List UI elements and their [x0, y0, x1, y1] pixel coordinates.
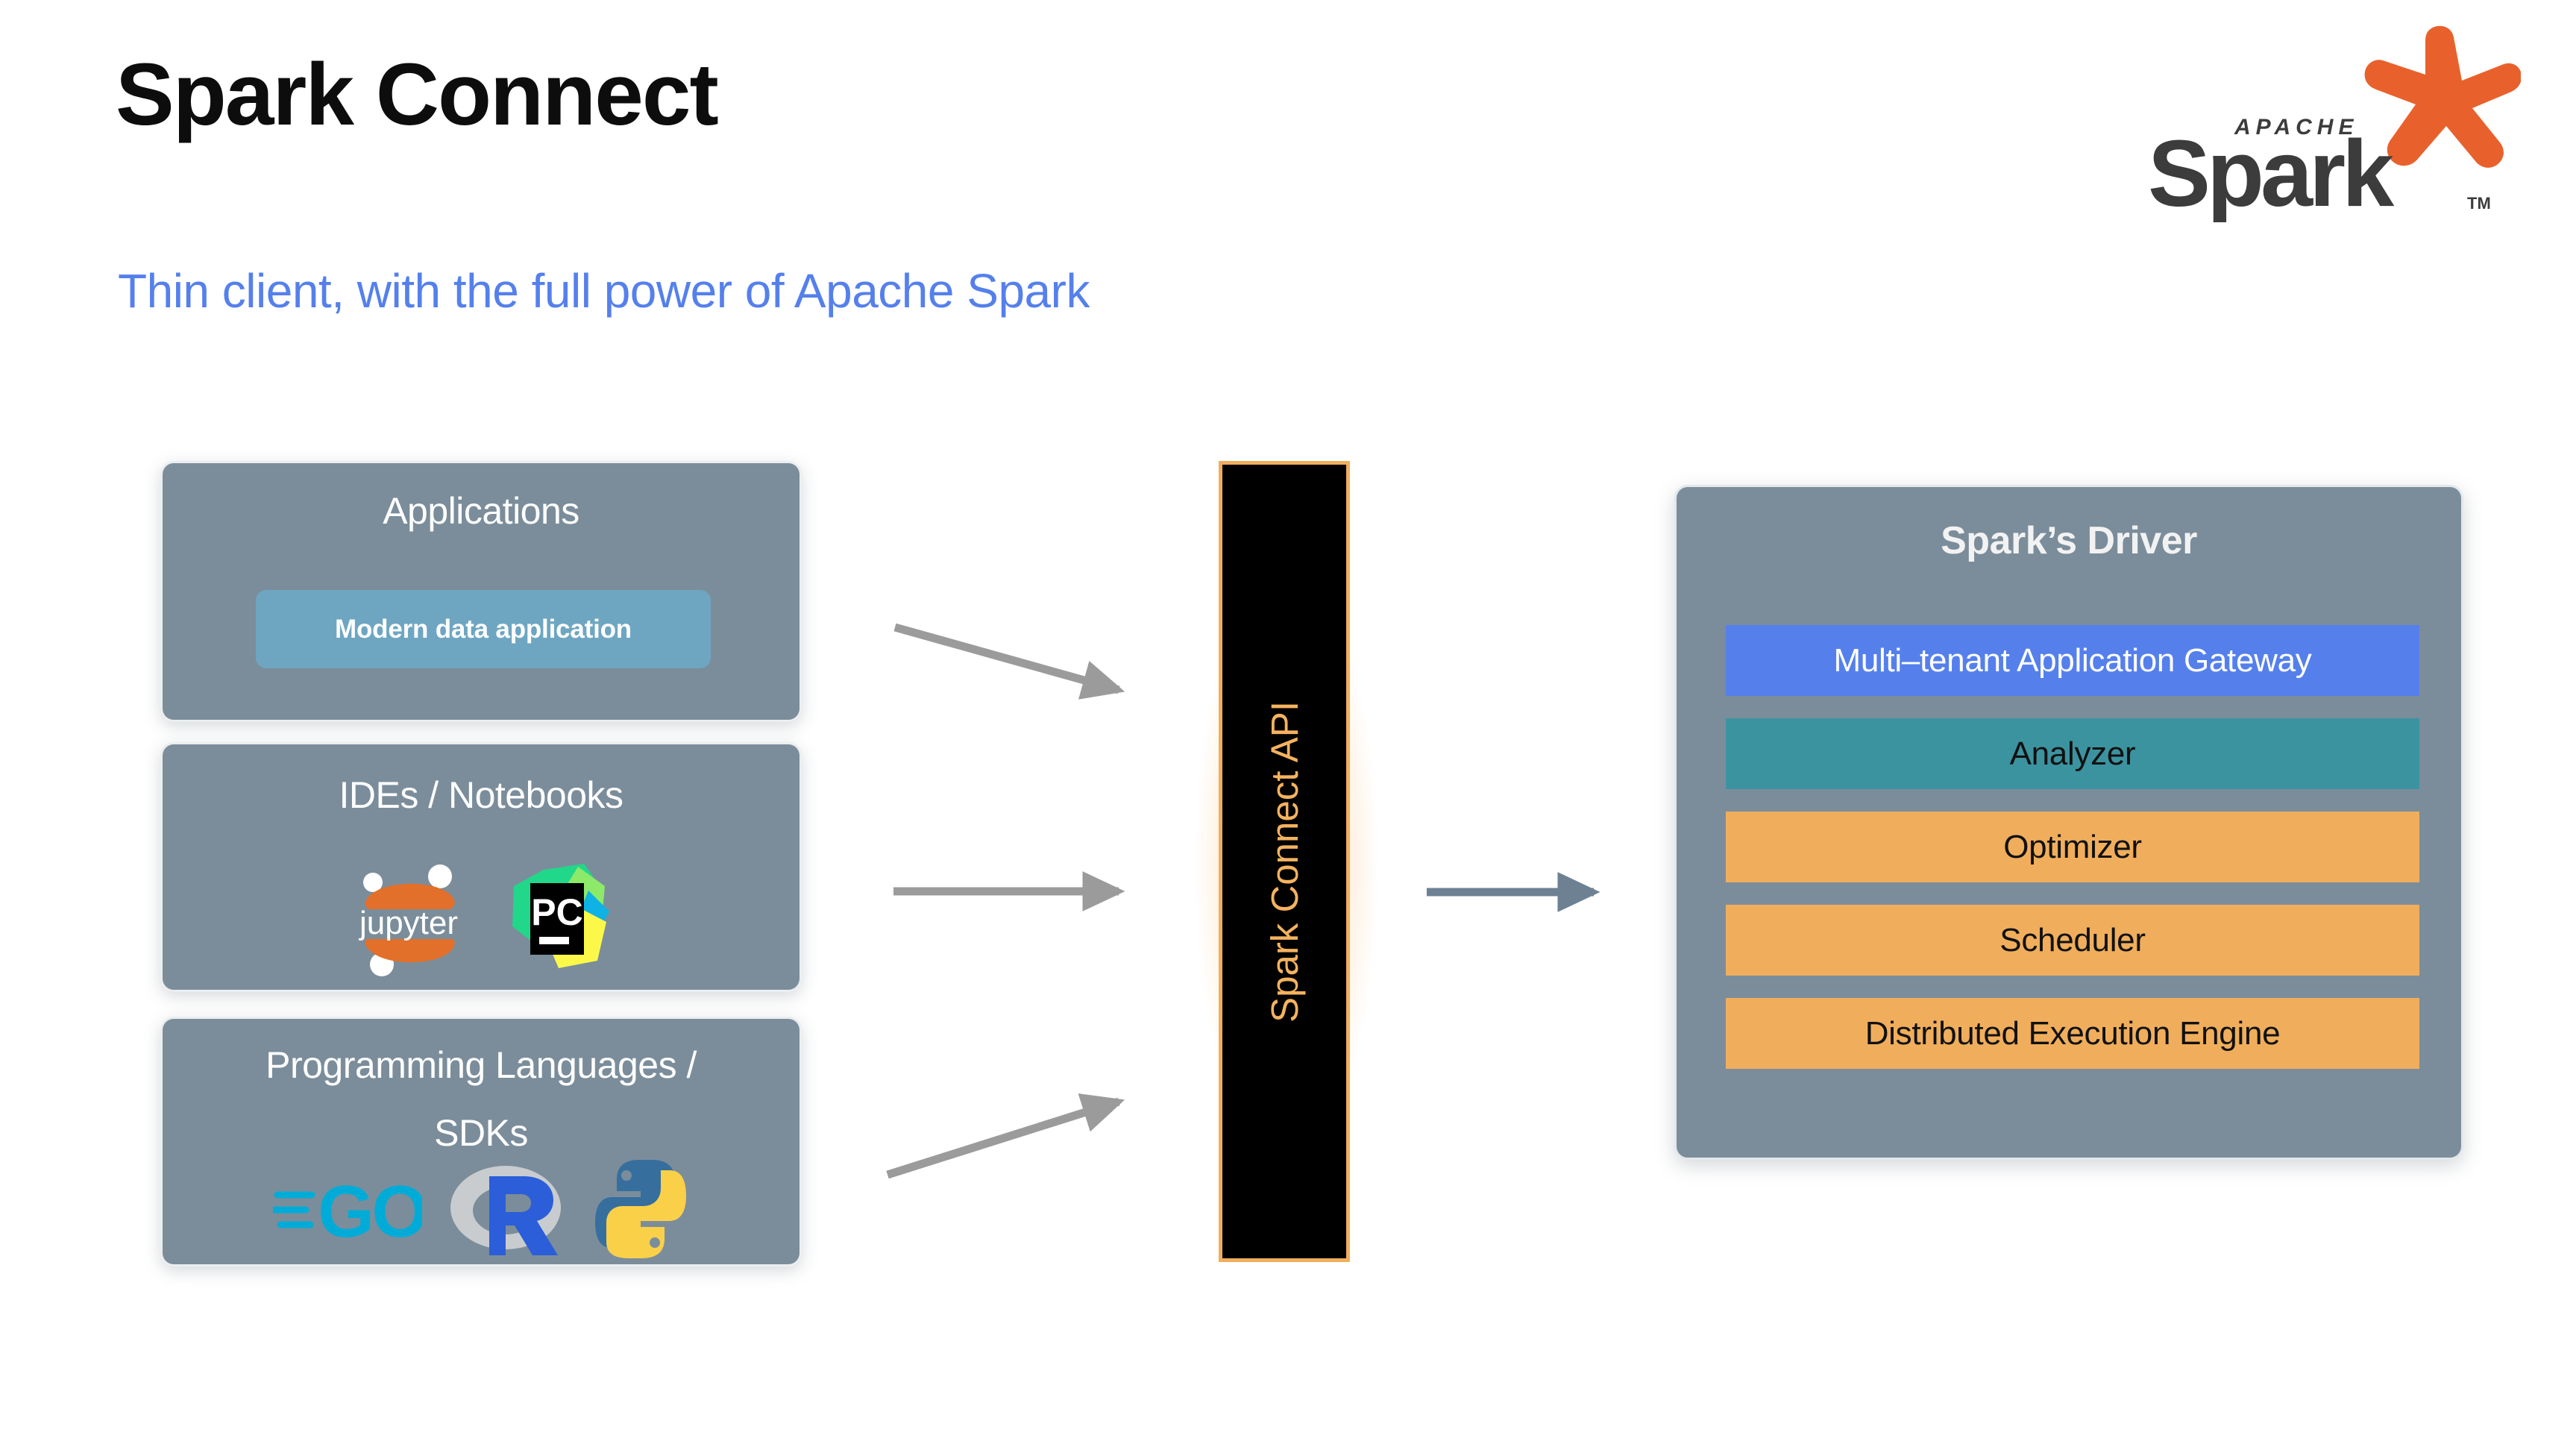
driver-row-label: Multi–tenant Application Gateway: [1833, 642, 2311, 679]
spark-driver-title: Spark’s Driver: [1677, 518, 2461, 563]
spark-wordmark: Spark: [2148, 121, 2395, 222]
python-logo: [592, 1157, 689, 1261]
driver-row-scheduler[interactable]: Scheduler: [1726, 905, 2419, 976]
pycharm-logo: PC: [500, 864, 612, 976]
driver-row-execution-engine[interactable]: Distributed Execution Engine: [1726, 998, 2419, 1069]
driver-row-analyzer[interactable]: Analyzer: [1726, 718, 2419, 789]
trademark-symbol: TM: [2467, 194, 2491, 213]
arrow-applications-to-api: [895, 627, 1119, 690]
card-applications[interactable]: Applications Modern data application: [160, 461, 802, 722]
driver-row-label: Scheduler: [1999, 922, 2145, 959]
driver-row-label: Optimizer: [2003, 829, 2142, 866]
driver-row-label: Distributed Execution Engine: [1865, 1015, 2281, 1052]
go-logo: GO: [273, 1168, 422, 1250]
driver-row-label: Analyzer: [2010, 735, 2136, 773]
svg-text:jupyter: jupyter: [357, 905, 457, 941]
spark-connect-api-label: Spark Connect API: [1263, 701, 1307, 1023]
language-logo-row: GO: [163, 1157, 799, 1261]
modern-data-application-chip[interactable]: Modern data application: [256, 590, 711, 668]
card-ides-notebooks[interactable]: IDEs / Notebooks jupyter PC: [160, 742, 802, 992]
card-ides-notebooks-title: IDEs / Notebooks: [163, 774, 799, 817]
page-subtitle: Thin client, with the full power of Apac…: [118, 267, 1090, 315]
card-applications-title: Applications: [163, 490, 799, 533]
arrow-languages-to-api: [888, 1102, 1119, 1175]
ide-logo-row: jupyter PC: [163, 860, 799, 979]
svg-text:GO: GO: [318, 1170, 422, 1250]
driver-row-optimizer[interactable]: Optimizer: [1726, 812, 2419, 882]
card-languages-title-line1: Programming Languages /: [163, 1044, 799, 1087]
r-logo: [447, 1157, 567, 1261]
driver-row-gateway[interactable]: Multi–tenant Application Gateway: [1726, 625, 2419, 696]
spark-connect-api-bar[interactable]: Spark Connect API: [1219, 461, 1350, 1262]
spark-driver-panel[interactable]: Spark’s Driver Multi–tenant Application …: [1674, 485, 2463, 1160]
svg-text:Spark: Spark: [2148, 121, 2395, 222]
page-title: Spark Connect: [116, 51, 717, 139]
apache-spark-logo: APACHE Spark TM: [2133, 21, 2521, 222]
card-languages-title-line2: SDKs: [163, 1112, 799, 1155]
jupyter-logo: jupyter: [351, 860, 481, 979]
svg-text:PC: PC: [531, 891, 582, 933]
card-programming-languages-sdks[interactable]: Programming Languages / SDKs GO: [160, 1017, 802, 1266]
